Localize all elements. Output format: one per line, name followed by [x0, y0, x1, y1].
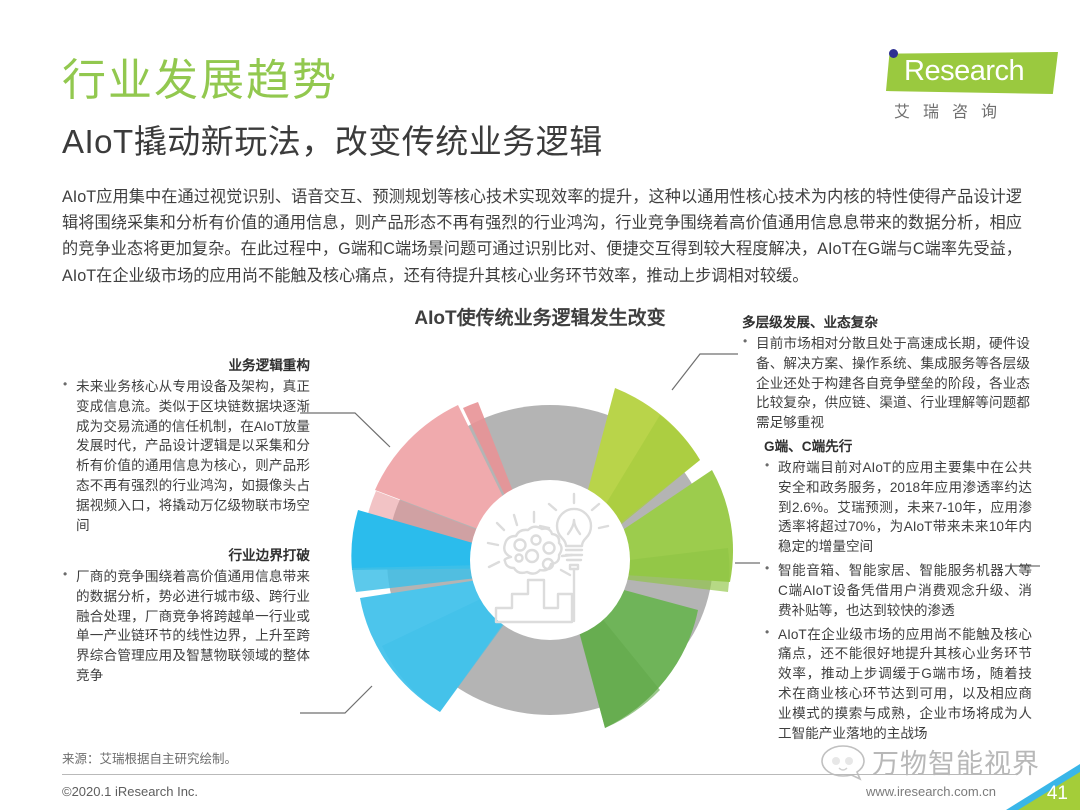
annotation-business-logic: 业务逻辑重构 未来业务核心从专用设备及架构，真正变成信息流。类似于区块链数据块逐… — [62, 356, 310, 540]
annotation-industry-boundary: 行业边界打破 厂商的竞争围绕着高价值通用信息带来的数据分析，势必进行城市级、跨行… — [62, 546, 310, 690]
cat-eye-left — [832, 757, 840, 765]
annotation-heading: 多层级发展、业态复杂 — [742, 313, 1030, 333]
annotation-heading: 业务逻辑重构 — [62, 356, 310, 376]
annotation-bullet-list: 未来业务核心从专用设备及架构，真正变成信息流。类似于区块链数据块逐渐成为交易流通… — [62, 377, 310, 536]
logo-i-stem — [890, 58, 897, 90]
annotation-bullet-list: 政府端目前对AIoT的应用主要集中在公共安全和政务服务，2018年应用渗透率约达… — [764, 458, 1032, 744]
source-note: 来源：艾瑞根据自主研究绘制。 — [62, 748, 237, 767]
cat-eye-right — [845, 757, 853, 765]
intro-paragraph: AIoT应用集中在通过视觉识别、语音交互、预测规划等核心技术实现效率的提升，这种… — [62, 184, 1022, 289]
annotation-heading: G端、C端先行 — [764, 437, 1032, 457]
cat-mouth — [839, 768, 847, 770]
slide-canvas: 行业发展趋势 AIoT撬动新玩法，改变传统业务逻辑 Research 艾瑞咨询 … — [0, 0, 1080, 810]
list-item: AIoT在企业级市场的应用尚不能触及核心痛点，还不能很好地提升其核心业务环节效率… — [764, 625, 1032, 744]
list-item: 智能音箱、智能家居、智能服务机器人等C端AIoT设备凭借用户消费观念升级、消费补… — [764, 561, 1032, 621]
logo-chinese-name: 艾瑞咨询 — [894, 98, 1010, 122]
section-title: 行业发展趋势 — [62, 58, 338, 104]
page-title: AIoT撬动新玩法，改变传统业务逻辑 — [62, 124, 603, 160]
pie-svg — [300, 360, 800, 760]
list-item: 政府端目前对AIoT的应用主要集中在公共安全和政务服务，2018年应用渗透率约达… — [764, 458, 1032, 557]
page-corner-decoration — [1006, 764, 1080, 810]
footer-divider — [62, 774, 1018, 775]
list-item: 目前市场相对分散且处于高速成长期，硬件设备、解决方案、操作系统、集成服务等各层级… — [742, 334, 1030, 433]
logo-i-dot-icon — [889, 49, 898, 58]
aiot-pie-diagram — [300, 360, 800, 760]
annotation-gc-first: G端、C端先行 政府端目前对AIoT的应用主要集中在公共安全和政务服务，2018… — [764, 437, 1032, 748]
annotation-bullet-list: 厂商的竞争围绕着高价值通用信息带来的数据分析，势必进行城市级、跨行业融合处理，厂… — [62, 567, 310, 686]
list-item: 厂商的竞争围绕着高价值通用信息带来的数据分析，势必进行城市级、跨行业融合处理，厂… — [62, 567, 310, 686]
iresearch-logo: Research 艾瑞咨询 — [868, 48, 1058, 128]
annotation-heading: 行业边界打破 — [62, 546, 310, 566]
page-number: 41 — [1047, 783, 1068, 805]
website-url[interactable]: www.iresearch.com.cn — [866, 784, 996, 799]
copyright-text: ©2020.1 iResearch Inc. — [62, 784, 198, 799]
logo-wordmark: Research — [904, 55, 1024, 88]
list-item: 未来业务核心从专用设备及架构，真正变成信息流。类似于区块链数据块逐渐成为交易流通… — [62, 377, 310, 536]
annotation-multilayer-development: 多层级发展、业态复杂 目前市场相对分散且处于高速成长期，硬件设备、解决方案、操作… — [742, 313, 1030, 437]
annotation-bullet-list: 目前市场相对分散且处于高速成长期，硬件设备、解决方案、操作系统、集成服务等各层级… — [742, 334, 1030, 433]
